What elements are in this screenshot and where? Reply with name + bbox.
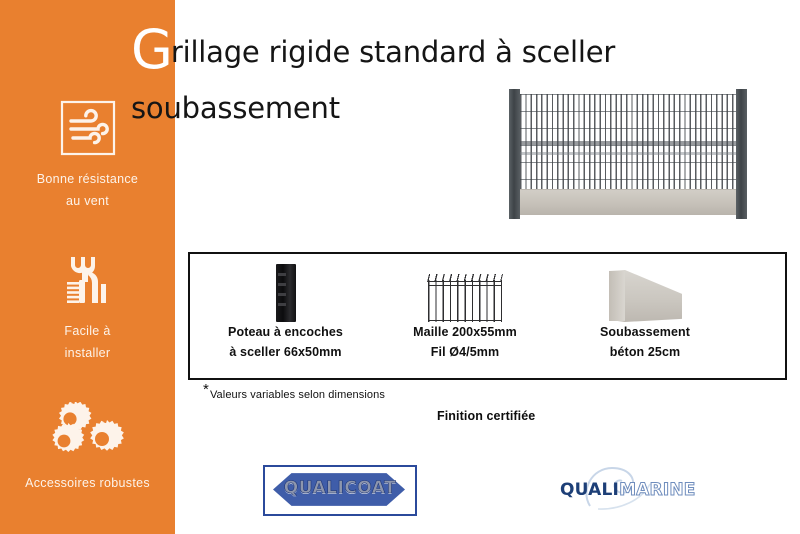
fence-concrete-base: [520, 189, 736, 215]
fence-mesh-band-secondary: [520, 152, 736, 155]
feature-easy-install: Facile à installer: [0, 252, 175, 364]
gears-icon: [0, 402, 175, 465]
component-mesh: Maille 200x55mm Fil Ø4/5mm: [370, 254, 560, 378]
certification-label: Finition certifiée: [437, 409, 535, 423]
footnote-text: Valeurs variables selon dimensions: [210, 389, 385, 401]
feature-label: Facile à installer: [0, 320, 175, 364]
component-label-line1: Soubassement: [550, 322, 740, 342]
feature-robust-accessories: Accessoires robustes: [0, 402, 175, 494]
title-drop-cap: G: [131, 18, 171, 81]
qualicoat-logo: QUALICOAT: [263, 465, 417, 516]
qualimarine-text-bold: QUALI: [560, 480, 619, 500]
fence-post-icon: [198, 254, 373, 322]
fence-post-right: [736, 89, 747, 219]
component-post: Poteau à encoches à sceller 66x50mm: [198, 254, 373, 378]
footnote: *Valeurs variables selon dimensions: [203, 381, 385, 401]
qualimarine-text-light: MARINE: [619, 480, 696, 500]
concrete-base-icon: [550, 254, 740, 322]
feature-label: Accessoires robustes: [0, 472, 175, 494]
tools-icon: [0, 252, 175, 313]
fence-mesh-band: [520, 141, 736, 145]
component-label-line1: Poteau à encoches: [198, 322, 373, 342]
footnote-marker: *: [203, 381, 209, 398]
fence-post-left: [509, 89, 520, 219]
poster-page: Bonne résistance au vent: [0, 0, 800, 534]
component-base: Soubassement béton 25cm: [550, 254, 740, 378]
product-photo: [509, 89, 747, 219]
components-box: Poteau à encoches à sceller 66x50mm Mail…: [188, 252, 787, 380]
component-label-line1: Maille 200x55mm: [370, 322, 560, 342]
wire-mesh-icon: [370, 254, 560, 322]
component-label-line2: Fil Ø4/5mm: [370, 342, 560, 362]
component-label-line2: béton 25cm: [550, 342, 740, 362]
qualimarine-logo: QUALIMARINE: [560, 468, 712, 510]
qualimarine-logo-text: QUALIMARINE: [560, 480, 712, 500]
component-label-line2: à sceller 66x50mm: [198, 342, 373, 362]
feature-label: Bonne résistance au vent: [0, 168, 175, 212]
qualicoat-logo-text: QUALICOAT: [265, 478, 415, 498]
